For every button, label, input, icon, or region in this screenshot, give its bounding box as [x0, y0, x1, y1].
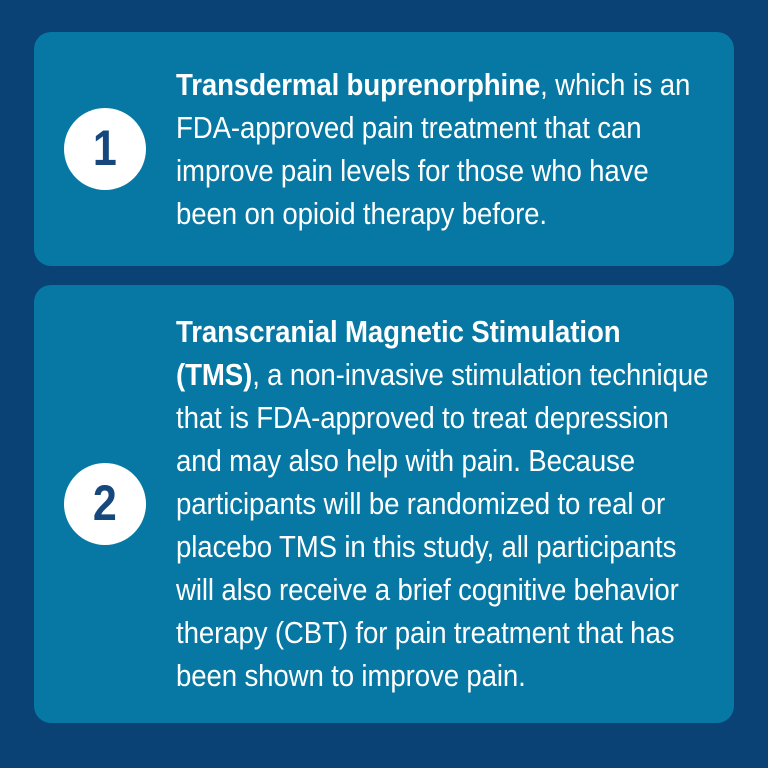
number-badge-1: 1 [64, 108, 146, 190]
number-badge-2: 2 [64, 463, 146, 545]
card-body-1: Transdermal buprenorphine, which is an F… [176, 62, 734, 236]
card-body-2: Transcranial Magnetic Stimulation (TMS),… [176, 311, 734, 698]
badge-number-label-1: 1 [93, 123, 116, 176]
card-rest-text-2: , a non-invasive stimulation technique t… [176, 358, 708, 693]
badge-column-1: 1 [34, 108, 176, 190]
infographic-canvas: 1 Transdermal buprenorphine, which is an… [0, 0, 768, 768]
numbered-item-card-2: 2 Transcranial Magnetic Stimulation (TMS… [34, 285, 734, 723]
card-lead-text-1: Transdermal buprenorphine [176, 68, 540, 102]
card-paragraph-2: Transcranial Magnetic Stimulation (TMS),… [176, 311, 710, 698]
badge-number-label-2: 2 [93, 478, 116, 531]
numbered-item-card-1: 1 Transdermal buprenorphine, which is an… [34, 32, 734, 266]
badge-column-2: 2 [34, 463, 176, 545]
card-paragraph-1: Transdermal buprenorphine, which is an F… [176, 64, 710, 236]
